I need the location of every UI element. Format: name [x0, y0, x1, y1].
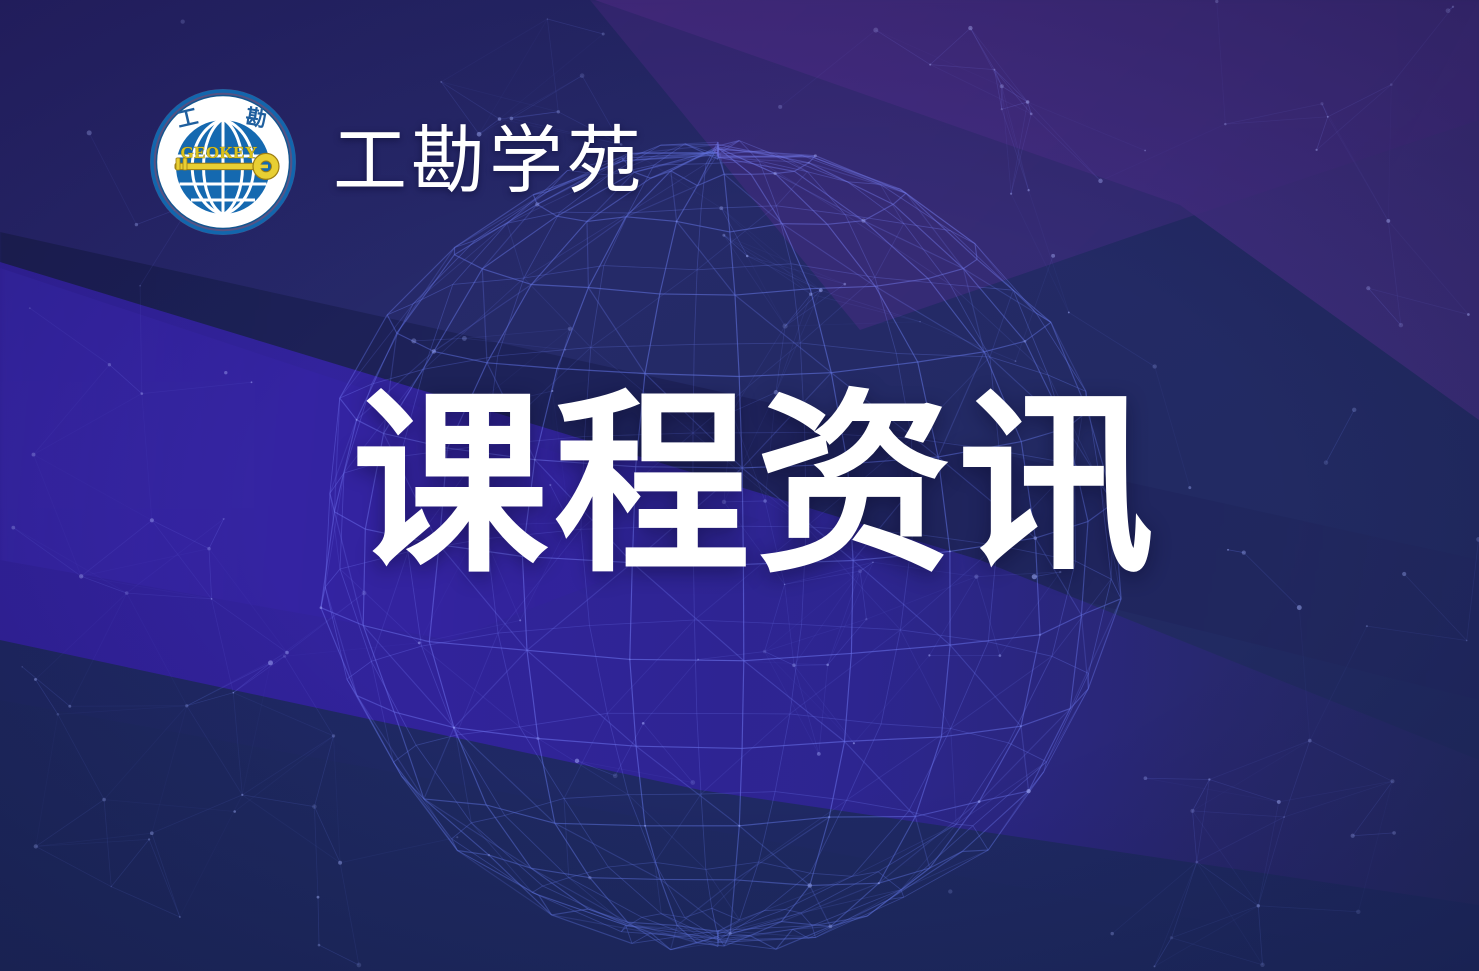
geokey-logo-icon: GEOKEY 工 勘 — [149, 88, 297, 236]
geokey-wordmark: GEOKEY — [180, 143, 257, 162]
brand-name-text: 工勘学苑 — [333, 117, 645, 205]
page-title: 课程资讯 — [352, 380, 1160, 592]
poster-canvas: GEOKEY 工 勘 工勘学苑 课程资讯 — [0, 0, 1479, 971]
logo-glyph-kan: 勘 — [244, 105, 268, 132]
